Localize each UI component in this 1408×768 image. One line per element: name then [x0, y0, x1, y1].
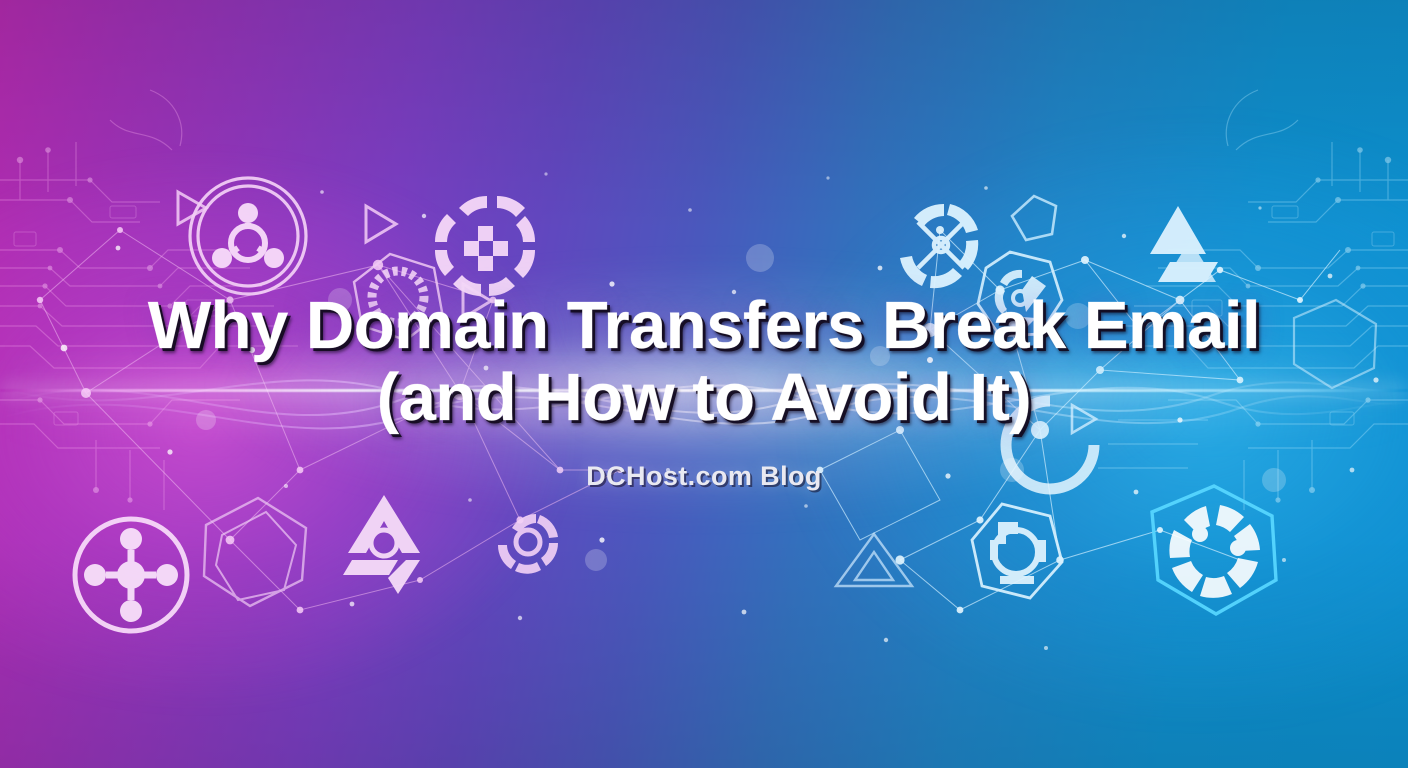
page-title: Why Domain Transfers Break Email (and Ho… — [89, 290, 1319, 432]
banner-text-block: Why Domain Transfers Break Email (and Ho… — [0, 0, 1408, 768]
title-line-1: Why Domain Transfers Break Email — [148, 288, 1260, 363]
banner-subtitle: DCHost.com Blog — [586, 461, 822, 492]
title-line-2: (and How to Avoid It) — [377, 360, 1031, 435]
hero-banner: Why Domain Transfers Break Email (and Ho… — [0, 0, 1408, 768]
